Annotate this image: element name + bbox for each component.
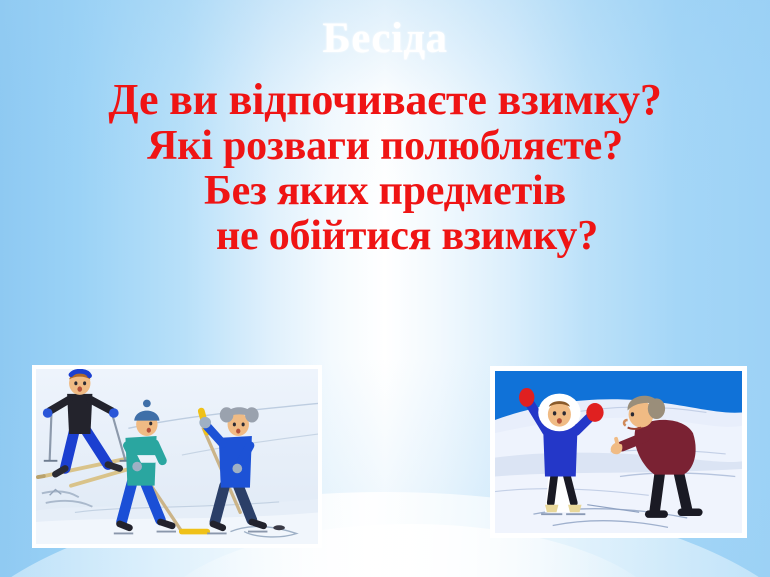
ice-skating-scene: [495, 371, 742, 533]
slide-canvas: Бесіда Де ви відпочиваєте взимку? Які ро…: [0, 0, 770, 577]
winter-sports-illustration: [32, 365, 322, 548]
question-line-3: Без яких предметів: [0, 170, 770, 213]
winter-sports-scene: [36, 369, 318, 544]
question-line-4: не обійтися взимку?: [0, 215, 770, 258]
question-line-1: Де ви відпочиваєте взимку?: [0, 78, 770, 123]
question-line-2: Які розваги полюбляєте?: [0, 125, 770, 168]
question-list: Де ви відпочиваєте взимку? Які розваги п…: [0, 78, 770, 257]
ice-skating-illustration: [490, 366, 747, 538]
slide-title: Бесіда: [0, 14, 770, 63]
